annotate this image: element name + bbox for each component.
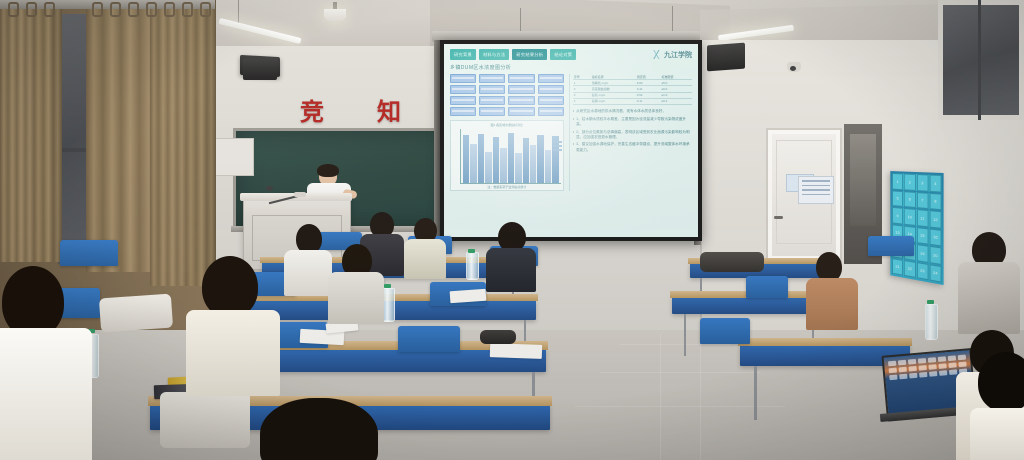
desktop-icon — [889, 368, 897, 374]
legend-swatch — [553, 145, 562, 147]
pocket-row: 1 2 3 4 — [892, 173, 942, 192]
chart-bar — [545, 150, 551, 183]
curtain-ring — [146, 2, 157, 17]
chart-bar — [493, 137, 499, 183]
slide-tab-1: 材料与方法 — [479, 49, 509, 60]
poster-line — [802, 180, 830, 182]
microphone-head-icon — [266, 186, 273, 191]
desktop-icon — [948, 355, 956, 361]
door-handle-icon[interactable] — [774, 216, 783, 219]
chart-bar — [485, 152, 491, 183]
bullet-text: 3、建议加强水源地保护，完善生态缓冲带建设，提升流域整体水环境承载能力。 — [576, 142, 692, 152]
chart-bar — [500, 148, 506, 183]
floor-line — [600, 372, 760, 373]
student-body — [806, 278, 858, 330]
student — [806, 252, 858, 328]
right-window — [938, 0, 1024, 120]
floor-line — [700, 334, 701, 460]
desk-leg — [684, 314, 686, 356]
pocket-cell: 22 — [904, 260, 915, 278]
student-head — [260, 398, 378, 460]
student-body — [404, 239, 446, 279]
slide-tab-bar: 研究背景 材料与方法 研究结果分析 结论对策 九江学院 — [450, 49, 692, 60]
desktop-icon — [929, 371, 937, 377]
student-body — [328, 272, 384, 324]
desktop-icon — [928, 364, 936, 370]
desk-leg — [754, 366, 757, 420]
student-body — [0, 328, 92, 460]
wall-camera — [787, 62, 801, 72]
chair — [60, 240, 118, 266]
student-head — [978, 352, 1024, 412]
bullet-text-highlight: 1、枯水期水质较丰水期差，主要是因为径流量减少导致污染物浓度升高。 — [576, 117, 692, 127]
student — [958, 232, 1020, 332]
desktop-icon — [918, 358, 926, 364]
flow-box — [538, 96, 564, 105]
pocket-cell: 8 — [929, 192, 941, 210]
backpack — [700, 252, 764, 272]
pocket-cell: 24 — [929, 264, 941, 283]
desktop-icon — [938, 363, 946, 369]
chart-bar — [463, 135, 469, 183]
bullet-item: • 3、建议加强水源地保护，完善生态缓冲带建设，提升流域整体水环境承载能力。 — [573, 142, 692, 152]
bullet-item: • 从研究区水源地的供水情况看，现有水体水质总体良好， — [573, 109, 692, 114]
chart-bar — [523, 138, 529, 183]
wall-speaker-right — [707, 43, 745, 72]
slide-tab-3: 结论对策 — [550, 49, 576, 60]
chart-bar — [515, 153, 521, 183]
slide-body: 图1 各区域水质指标对比 — [450, 74, 692, 191]
chair — [398, 326, 460, 352]
pocket-cell: 10 — [904, 208, 915, 225]
student — [404, 218, 446, 274]
curtain-panel-far[interactable] — [150, 0, 216, 286]
flow-box — [508, 96, 534, 105]
bottle-cap — [927, 300, 934, 304]
pocket-cell: 2 — [904, 174, 915, 191]
flow-box — [508, 107, 534, 116]
curtain-ring — [8, 2, 19, 17]
flow-box — [508, 74, 534, 83]
curtain-ring — [164, 2, 175, 17]
slide-data-table: 序号 指标名称 测定值 标准限值 1 溶解氧 mg/L 6.82 ≥5.0 — [573, 74, 692, 105]
slide-left-column: 图1 各区域水质指标对比 — [450, 74, 564, 191]
pocket-cell: 15 — [916, 227, 928, 245]
desktop-icon — [889, 375, 897, 381]
pocket-cell: 5 — [892, 190, 903, 207]
slide-title: 乡镇DUM区水浓度图分析 — [450, 64, 692, 71]
motto-char-2: 知 — [377, 92, 403, 127]
curtain-ring — [182, 2, 193, 17]
student — [978, 352, 1024, 460]
bullet-dot-icon: • — [573, 109, 574, 114]
white-bag — [99, 294, 173, 333]
pocket-cell: 3 — [916, 174, 928, 191]
curtain-panel-left[interactable] — [0, 0, 62, 262]
desktop-icon — [898, 360, 906, 366]
curtain-ring — [128, 2, 139, 17]
classroom-scene: 竞 知 向 研究背景 材料与方法 研究结果分析 结论对策 九江学院 — [0, 0, 1024, 460]
dome-light-center — [324, 9, 346, 22]
gooseneck-microphone — [268, 178, 302, 198]
pocket-cell: 16 — [929, 228, 941, 246]
chair — [868, 236, 914, 256]
flow-box — [479, 107, 505, 116]
logo-mark-icon — [650, 50, 662, 59]
desktop-icon — [938, 356, 946, 362]
window-mullion — [978, 0, 981, 120]
presenter-hair — [317, 164, 339, 177]
student-body — [958, 262, 1020, 334]
desktop-icon — [949, 369, 957, 375]
flow-box — [479, 85, 505, 94]
student-body — [284, 250, 332, 296]
pocket-cell: 7 — [916, 192, 928, 210]
bullet-item: • 1、枯水期水质较丰水期差，主要是因为径流量减少导致污染物浓度升高。 — [573, 117, 692, 127]
student — [244, 398, 394, 460]
chart-footnote: 注：数据来源于监测站点统计 — [453, 185, 561, 189]
desktop-icon — [918, 365, 926, 371]
microphone-base — [294, 192, 306, 197]
slide-tab-0: 研究背景 — [450, 49, 476, 60]
desktop-icon — [919, 372, 927, 378]
desktop-icon — [899, 374, 907, 380]
logo-text: 九江学院 — [664, 50, 692, 60]
desk — [672, 296, 822, 314]
chair — [746, 276, 788, 298]
bullet-dot-icon: • — [573, 142, 574, 152]
legend-swatch — [553, 149, 562, 151]
university-logo: 九江学院 — [650, 50, 692, 60]
desktop-icon — [899, 367, 907, 373]
flow-box — [450, 96, 476, 105]
slide-tab-2: 研究结果分析 — [512, 49, 547, 60]
student-body — [486, 248, 536, 292]
flow-box — [508, 85, 534, 94]
bullet-item: • 2、部分点位氨氮与总磷偏高，表明该区域受到农业面源污染影响较为明显，应加强农… — [573, 130, 692, 140]
flow-box — [450, 74, 476, 83]
desktop-icon — [939, 370, 947, 376]
desktop-icon — [908, 366, 916, 372]
bottle-cap — [384, 284, 391, 288]
legend-swatch — [553, 141, 562, 143]
pocket-cell: 20 — [929, 246, 941, 265]
table-cell: 总磷 mg/L — [591, 98, 636, 104]
chart-plot-area — [460, 129, 561, 184]
floor-line — [620, 344, 730, 345]
camera-lens — [790, 66, 796, 71]
curtain-ring — [200, 2, 211, 17]
table-cell: 0.11 — [636, 98, 661, 104]
pocket-cell: 11 — [916, 209, 928, 227]
flow-box — [479, 74, 505, 83]
desktop-icon — [928, 357, 936, 363]
curtain-ring — [44, 2, 55, 17]
pocket-cell: 12 — [929, 210, 941, 228]
desktop-icon — [948, 362, 956, 368]
paper-sheet — [490, 343, 542, 359]
student — [186, 256, 274, 388]
wall-poster — [798, 176, 834, 204]
poster-line — [802, 189, 830, 191]
chair — [700, 318, 750, 344]
student-body — [970, 408, 1024, 460]
table-cell: ≤0.2 — [660, 98, 692, 104]
flow-box — [538, 74, 564, 83]
slide-bar-chart: 图1 各区域水质指标对比 — [450, 120, 564, 191]
curtain-ring — [92, 2, 103, 17]
flow-box — [450, 107, 476, 116]
bullet-dot-icon: • — [573, 130, 574, 140]
pocket-cell: 23 — [916, 262, 928, 281]
wall-speaker-left — [243, 58, 277, 80]
bullet-text: 2、部分点位氨氮与总磷偏高，表明该区域受到农业面源污染影响较为明显，应加强农田退… — [576, 130, 692, 140]
flow-box — [538, 85, 564, 94]
table-row: 4 总磷 mg/L 0.11 ≤0.2 — [573, 98, 692, 104]
notebook — [450, 289, 487, 303]
poster-line — [802, 194, 830, 196]
projected-slide: 研究背景 材料与方法 研究结果分析 结论对策 九江学院 乡镇DUM区水浓度图分析 — [444, 44, 698, 237]
curtain-ring — [26, 2, 37, 17]
chart-bar — [508, 133, 514, 183]
chart-legend — [553, 141, 562, 153]
slide-right-column: 序号 指标名称 测定值 标准限值 1 溶解氧 mg/L 6.82 ≥5.0 — [569, 74, 692, 191]
motto-char-1: 竞 — [300, 92, 326, 127]
desk-top — [738, 338, 912, 346]
pocket-cell: 6 — [904, 191, 915, 208]
pencil-case — [480, 330, 516, 344]
pocket-cell: 4 — [929, 175, 941, 193]
bottle-cap — [468, 249, 475, 253]
chart-caption: 图1 各区域水质指标对比 — [453, 123, 561, 127]
student — [284, 224, 332, 290]
projection-screen[interactable]: 研究背景 材料与方法 研究结果分析 结论对策 九江学院 乡镇DUM区水浓度图分析 — [440, 40, 702, 241]
desktop-icon — [908, 359, 916, 365]
water-bottle-far — [466, 252, 479, 280]
pocket-cell: 1 — [892, 173, 903, 190]
tote-bag — [160, 392, 250, 448]
pocket-cell: 9 — [892, 207, 903, 224]
chart-bar — [530, 145, 536, 183]
student — [486, 222, 536, 284]
floor-line — [660, 334, 661, 460]
bullet-text: 从研究区水源地的供水情况看，现有水体水质总体良好， — [576, 109, 666, 114]
flow-box — [450, 85, 476, 94]
table-cell: 4 — [573, 98, 591, 104]
pocket-cell: 21 — [892, 258, 903, 276]
phone-pocket-organizer[interactable]: 1 2 3 4 5 6 7 8 9 10 11 12 13 14 15 16 1… — [890, 171, 943, 285]
student — [0, 266, 84, 460]
chart-bar — [478, 134, 484, 183]
student-body — [186, 310, 280, 396]
flow-diagram — [450, 74, 564, 116]
doorway-interior — [850, 134, 876, 226]
pocket-cell: 19 — [916, 244, 928, 262]
desktop-icon — [909, 373, 917, 379]
water-bottle-right — [925, 304, 938, 340]
flow-box — [479, 96, 505, 105]
student — [328, 244, 384, 316]
student-head — [202, 256, 258, 318]
slide-bullet-list: • 从研究区水源地的供水情况看，现有水体水质总体良好， • 1、枯水期水质较丰水… — [573, 109, 692, 153]
chart-bar — [470, 144, 476, 183]
poster-line — [802, 185, 830, 187]
chart-bar — [537, 135, 543, 183]
flow-box — [538, 107, 564, 116]
bullet-dot-icon: • — [573, 117, 574, 127]
curtain-ring — [110, 2, 121, 17]
desktop-icon — [888, 361, 896, 367]
